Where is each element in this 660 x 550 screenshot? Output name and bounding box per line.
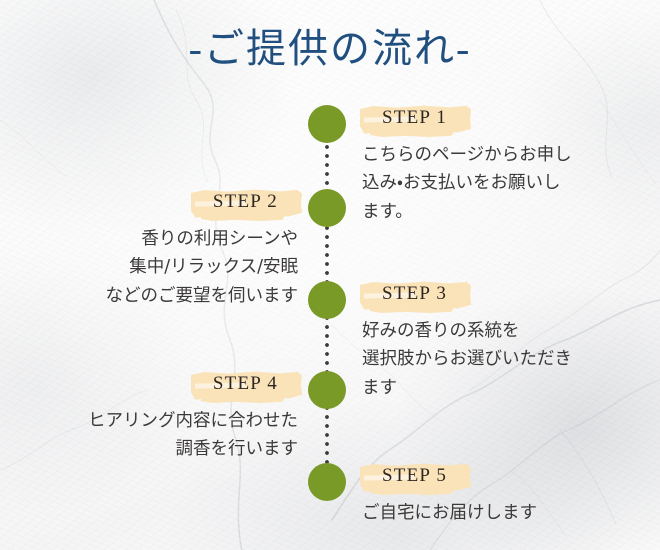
timeline-node-step-1 xyxy=(308,105,346,143)
step-body-4: ヒアリング内容に合わせた 調香を行います xyxy=(48,407,298,464)
step-item-4: STEP 4 ヒアリング内容に合わせた 調香を行います xyxy=(48,370,298,464)
badge-highlight-stroke-lower xyxy=(201,212,286,221)
timeline-node-step-2 xyxy=(308,189,346,227)
step-badge-label-1: STEP 1 xyxy=(382,107,447,128)
timeline-node-step-5 xyxy=(308,463,346,501)
badge-highlight-stroke-lower xyxy=(370,304,455,313)
step-badge-3: STEP 3 xyxy=(364,280,465,309)
step-badge-4: STEP 4 xyxy=(195,370,296,399)
badge-highlight-stroke-lower xyxy=(201,394,286,403)
step-item-5: STEP 5 ご自宅にお届けします xyxy=(362,462,612,527)
step-badge-label-3: STEP 3 xyxy=(382,283,447,304)
step-item-1: STEP 1 こちらのページからお申し 込み・お支払いをお願いし ます。 xyxy=(362,104,612,226)
step-badge-5: STEP 5 xyxy=(364,462,465,491)
step-body-1: こちらのページからお申し 込み・お支払いをお願いし ます。 xyxy=(362,141,612,226)
flow-infographic: -ご提供の流れ- STEP 1 こちらのページからお申し 込み・お支払いをお願い… xyxy=(0,0,660,550)
timeline-node-step-4 xyxy=(308,371,346,409)
step-item-2: STEP 2 香りの利用シーンや 集中/リラックス/安眠 などのご要望を伺います xyxy=(48,188,298,310)
step-body-5: ご自宅にお届けします xyxy=(362,499,612,527)
step-badge-1: STEP 1 xyxy=(364,104,465,133)
step-badge-label-2: STEP 2 xyxy=(213,191,278,212)
step-badge-label-5: STEP 5 xyxy=(382,465,447,486)
badge-highlight-stroke-lower xyxy=(370,486,455,495)
timeline-node-step-3 xyxy=(308,281,346,319)
step-badge-label-4: STEP 4 xyxy=(213,373,278,394)
step-item-3: STEP 3 好みの香りの系統を 選択肢からお選びいただき ます xyxy=(362,280,612,402)
page-title: -ご提供の流れ- xyxy=(0,26,660,72)
badge-highlight-stroke-lower xyxy=(370,128,455,137)
step-badge-2: STEP 2 xyxy=(195,188,296,217)
step-body-2: 香りの利用シーンや 集中/リラックス/安眠 などのご要望を伺います xyxy=(48,225,298,310)
step-body-3: 好みの香りの系統を 選択肢からお選びいただき ます xyxy=(362,317,612,402)
